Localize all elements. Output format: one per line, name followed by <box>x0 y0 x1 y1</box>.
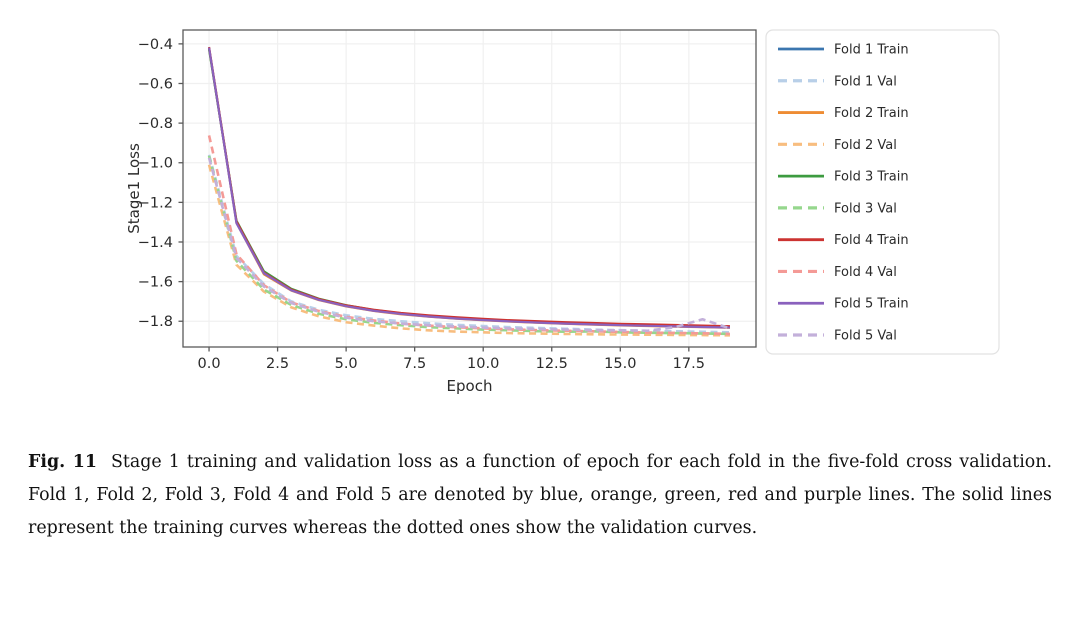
figure-number: Fig. 11 <box>28 452 97 472</box>
svg-text:−1.2: −1.2 <box>138 195 173 211</box>
svg-text:−1.0: −1.0 <box>138 156 173 172</box>
legend-label-fold-5-val: Fold 5 Val <box>834 329 897 344</box>
svg-text:−1.8: −1.8 <box>138 314 173 330</box>
svg-text:0.0: 0.0 <box>198 356 221 372</box>
chart-legend[interactable]: Fold 1 TrainFold 1 ValFold 2 TrainFold 2… <box>766 30 999 354</box>
grid-lines <box>183 30 756 347</box>
legend-label-fold-5-train: Fold 5 Train <box>834 297 909 312</box>
svg-text:−1.4: −1.4 <box>138 235 173 251</box>
legend-label-fold-2-train: Fold 2 Train <box>834 106 909 121</box>
legend-label-fold-2-val: Fold 2 Val <box>834 138 897 153</box>
svg-text:−0.4: −0.4 <box>138 37 173 53</box>
svg-text:−0.6: −0.6 <box>138 76 173 92</box>
figure-caption: Fig. 11Stage 1 training and validation l… <box>28 446 1052 545</box>
svg-text:12.5: 12.5 <box>536 356 568 372</box>
svg-text:17.5: 17.5 <box>673 356 705 372</box>
stage1-loss-line-chart: 0.02.55.07.510.012.515.017.5−0.4−0.6−0.8… <box>0 0 1080 400</box>
legend-label-fold-4-val: Fold 4 Val <box>834 265 897 280</box>
figure-page: 0.02.55.07.510.012.515.017.5−0.4−0.6−0.8… <box>0 0 1080 618</box>
svg-text:10.0: 10.0 <box>467 356 499 372</box>
svg-text:−1.6: −1.6 <box>138 275 173 291</box>
svg-text:2.5: 2.5 <box>266 356 289 372</box>
y-axis-title: Stage1 Loss <box>125 143 143 234</box>
legend-label-fold-1-train: Fold 1 Train <box>834 43 909 58</box>
svg-text:15.0: 15.0 <box>604 356 636 372</box>
legend-label-fold-3-train: Fold 3 Train <box>834 170 909 185</box>
svg-text:−0.8: −0.8 <box>138 116 173 132</box>
figure-caption-text: Stage 1 training and validation loss as … <box>28 452 1052 538</box>
legend-label-fold-4-train: Fold 4 Train <box>834 233 909 248</box>
x-axis-title: Epoch <box>447 377 493 395</box>
chart-figure: 0.02.55.07.510.012.515.017.5−0.4−0.6−0.8… <box>0 0 1080 400</box>
legend-label-fold-3-val: Fold 3 Val <box>834 201 897 216</box>
svg-text:7.5: 7.5 <box>403 356 426 372</box>
svg-text:5.0: 5.0 <box>335 356 358 372</box>
legend-label-fold-1-val: Fold 1 Val <box>834 74 897 89</box>
